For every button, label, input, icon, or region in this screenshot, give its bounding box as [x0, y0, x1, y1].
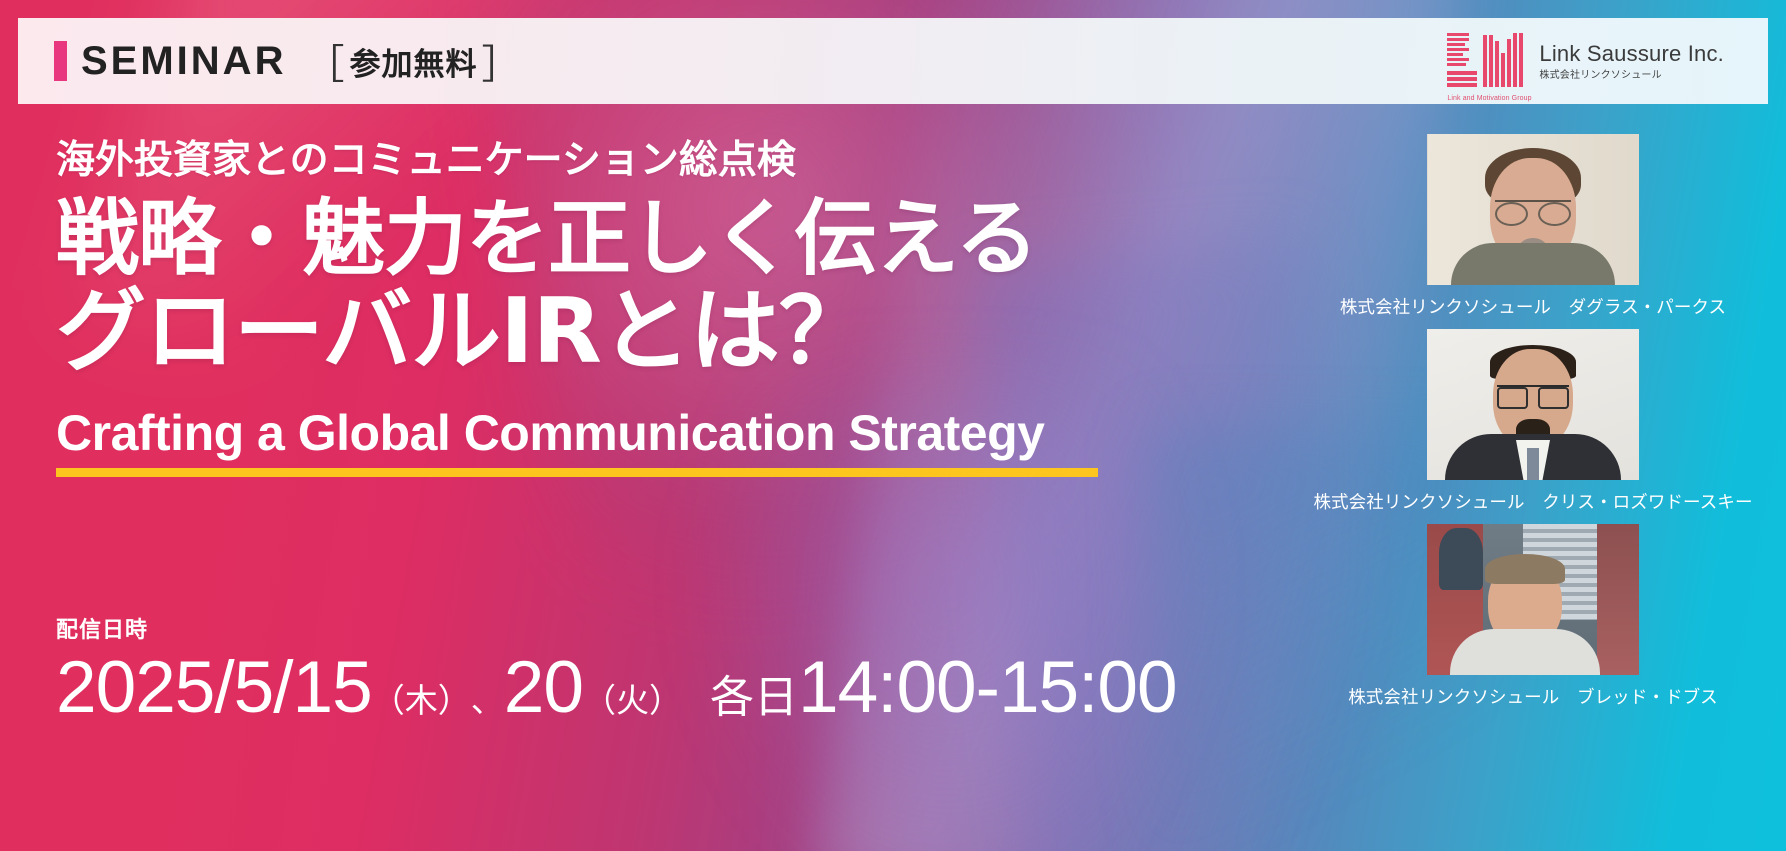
- time-range: 14:00-15:00: [798, 646, 1177, 729]
- logo-group-tagline: Link and Motivation Group: [1447, 95, 1531, 102]
- seminar-label: SEMINAR: [81, 41, 286, 81]
- date-main: 2025/5/15: [56, 650, 372, 727]
- subtitle-english: Crafting a Global Communication Strategy: [56, 407, 1098, 460]
- speaker-caption: 株式会社リンクソシュール クリス・ロズワドースキー: [1280, 480, 1786, 520]
- subtitle-block: Crafting a Global Communication Strategy: [56, 407, 1098, 477]
- speaker-caption: 株式会社リンクソシュール ブレッド・ドブス: [1280, 675, 1786, 715]
- company-name-en: Link Saussure Inc.: [1539, 40, 1724, 68]
- speaker-item: 株式会社リンクソシュール クリス・ロズワドースキー: [1280, 329, 1786, 520]
- company-logo: Link and Motivation Group Link Saussure …: [1447, 31, 1724, 91]
- link-motivation-mark-icon: Link and Motivation Group: [1447, 31, 1525, 91]
- each-day-label: 各日: [710, 661, 798, 725]
- title-line-1: 戦略・魅力を正しく伝える: [56, 197, 1176, 282]
- kicker-text: 海外投資家とのコミュニケーション総点検: [56, 140, 1176, 183]
- free-admission-label: 参加無料: [345, 39, 481, 84]
- schedule-line: 2025/5/15 （木） 、 20 （火） 各日 14:00-15:00: [56, 646, 1177, 729]
- title-line-2: グローバルIRとは？: [56, 286, 1176, 378]
- speaker-photo-chris-rozwadowski: [1427, 329, 1639, 480]
- seminar-banner: SEMINAR ［ 参加無料 ］: [0, 0, 1786, 851]
- yellow-underline: [56, 468, 1098, 477]
- headline-block: 海外投資家とのコミュニケーション総点検 戦略・魅力を正しく伝える グローバルIR…: [56, 140, 1176, 477]
- bracket-close: ］: [481, 32, 522, 90]
- logo-text-block: Link Saussure Inc. 株式会社リンクソシュール: [1539, 40, 1724, 82]
- date-second: 20: [504, 650, 583, 727]
- date-separator: 、: [471, 674, 504, 722]
- date-main-dow: （木）: [372, 674, 471, 722]
- header-bar: SEMINAR ［ 参加無料 ］: [18, 18, 1768, 104]
- schedule-block: 配信日時 2025/5/15 （木） 、 20 （火） 各日 14:00-15:…: [56, 612, 1177, 729]
- speaker-caption: 株式会社リンクソシュール ダグラス・パークス: [1280, 285, 1786, 325]
- speaker-item: 株式会社リンクソシュール ダグラス・パークス: [1280, 134, 1786, 325]
- speaker-list: 株式会社リンクソシュール ダグラス・パークス 株式会社リンクソシュール クリス・…: [1280, 134, 1786, 719]
- pink-tick-icon: [54, 41, 67, 81]
- bracket-open: ［: [304, 32, 345, 90]
- speaker-photo-douglas-parks: [1427, 134, 1639, 285]
- date-second-dow: （火）: [583, 674, 682, 722]
- speaker-item: 株式会社リンクソシュール ブレッド・ドブス: [1280, 524, 1786, 715]
- company-name-ja: 株式会社リンクソシュール: [1539, 70, 1724, 83]
- schedule-label: 配信日時: [56, 612, 1177, 644]
- seminar-label-group: SEMINAR ［ 参加無料 ］: [54, 32, 522, 90]
- free-admission-badge: ［ 参加無料 ］: [304, 32, 522, 90]
- speaker-photo-brad-dobbs: [1427, 524, 1639, 675]
